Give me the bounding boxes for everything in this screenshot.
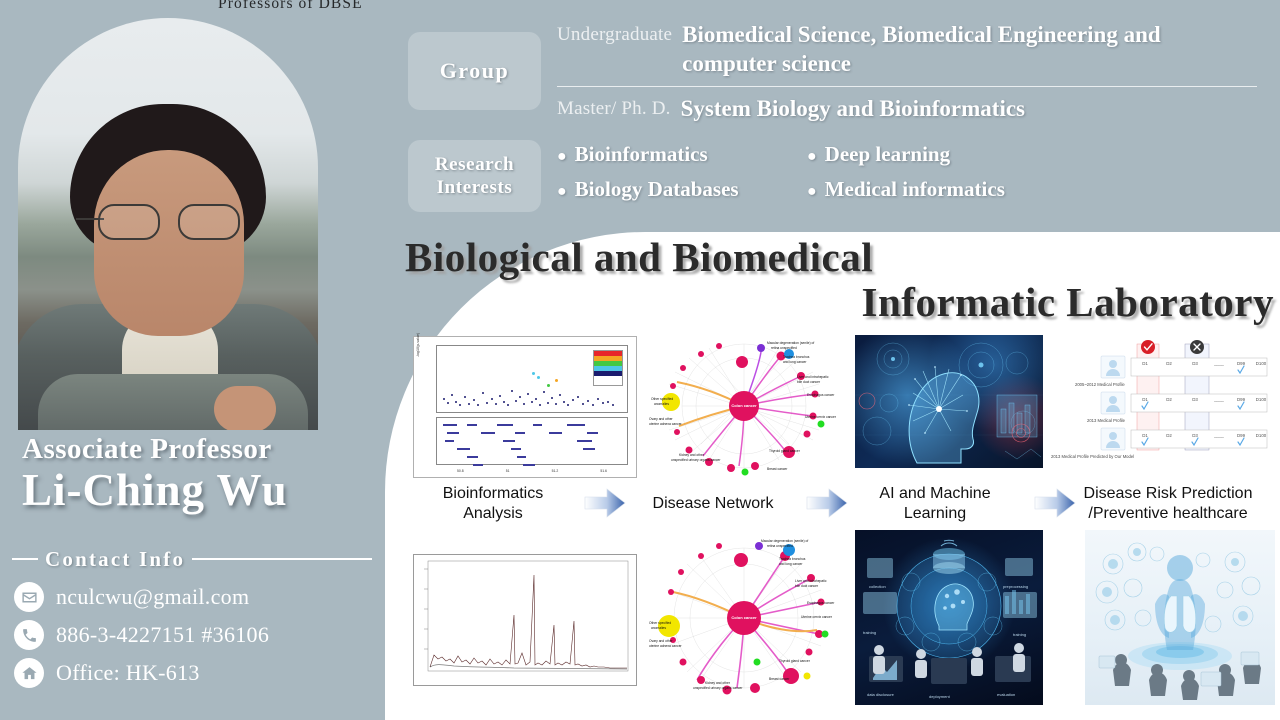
col-d1-r3: D1 <box>1142 433 1148 438</box>
poster-root: Professors of DBSE Associate Professor L… <box>0 0 1280 720</box>
network-b-label-anomalies: Other specified <box>649 621 671 625</box>
network-node-label-kidney: Kidney and other <box>679 453 705 457</box>
network-b-label-ovary: Ovary and other <box>649 639 674 643</box>
header-section: Group ResearchInterests Undergraduate Bi… <box>385 0 1280 232</box>
network-b-label-kidney: Kidney and other <box>705 681 731 685</box>
locuszoom-xticks: 50.8 51 51.2 51.6 <box>436 466 628 475</box>
network-node-label-macular2: retina unspecified <box>771 346 797 350</box>
network-node-label-liver: Liver and intrahepatic <box>797 375 829 379</box>
network-b-label-liver: Liver and intrahepatic <box>795 579 827 583</box>
workflow-stage-2: AI and MachineLearning <box>845 484 1025 523</box>
col-d100-r2: D100 <box>1256 397 1267 402</box>
graduate-label: Master/ Ph. D. <box>557 94 671 120</box>
professor-portrait <box>18 18 318 430</box>
locuszoom-scatter-panel <box>436 345 628 413</box>
check-badge-red <box>1141 340 1155 354</box>
network-node-label-anomalies2: anomalies <box>654 402 669 406</box>
portrait-glasses <box>98 204 240 238</box>
network-b-label-anomalies2: anomalies <box>651 626 666 630</box>
profile-sidebar: Professors of DBSE Associate Professor L… <box>0 0 385 720</box>
envelope-icon <box>14 582 44 612</box>
network-b-label-ovary2: uterine adnexa cancer <box>649 644 683 648</box>
ml-label-training2: training <box>1013 632 1026 637</box>
interest-item-2: ● Biology Databases <box>557 177 807 202</box>
network-hub-label-b: Colon cancer <box>731 615 757 620</box>
disease-comorbidity-network-top: Colon cancer Macular degeneration (senil… <box>649 334 849 479</box>
network-hub-label: Colon cancer <box>731 403 757 408</box>
xtick-3: 51.6 <box>600 469 607 473</box>
network-b-label-esophagus: Esophagus cancer <box>807 601 835 605</box>
interest-label-2: Biology Databases <box>575 177 739 202</box>
network-b-label-macular: Macular degeneration (senile) of <box>761 539 808 543</box>
workflow-stage-0: BioinformaticsAnalysis <box>413 484 573 523</box>
col-d99-r1: D99 <box>1237 361 1246 366</box>
interest-item-0: ● Bioinformatics <box>557 142 807 167</box>
disease-risk-prediction-diagram: D1 D2 D3 ____ D99 D100 D1 D2 D3 ____ D99… <box>1073 334 1273 474</box>
research-interests-tag: ResearchInterests <box>408 140 541 212</box>
ai-neural-head-illustration <box>855 335 1043 468</box>
undergraduate-value: Biomedical Science, Biomedical Engineeri… <box>682 20 1257 79</box>
locuszoom-r2-legend <box>593 350 623 386</box>
ml-label-collection: collection <box>869 584 886 589</box>
research-tag-line1: ResearchInterests <box>435 153 514 199</box>
graduate-value: System Biology and Bioinformatics <box>681 94 1025 123</box>
portrait-face <box>94 150 244 336</box>
contact-row-email[interactable]: nculcwu@gmail.com <box>14 578 374 616</box>
locuszoom-ylabel: -log10(p-value) <box>416 333 420 357</box>
interest-item-3: ● Medical informatics <box>807 177 1257 202</box>
col-d100-r3: D100 <box>1256 433 1267 438</box>
network-node-label-cervix: Uterine cervix cancer <box>805 415 837 419</box>
col-d3-r1: D3 <box>1192 361 1198 366</box>
contact-row-phone[interactable]: 886-3-4227151 #36106 <box>14 616 374 654</box>
network-node-label-kidney2: unspecified urinary organs cancer <box>671 458 721 462</box>
workflow-strip: BioinformaticsAnalysis Disease Network A… <box>385 478 1280 534</box>
undergraduate-label: Undergraduate <box>557 20 672 46</box>
disease-comorbidity-network-bottom: Colon cancer Macular degeneration (senil… <box>649 530 849 705</box>
mass-spectrum-plot <box>413 554 637 686</box>
ml-label-evaluation: evaluation <box>997 692 1015 697</box>
col-d3-r2: D3 <box>1192 397 1198 402</box>
network-node-label-anomalies: Other specified <box>651 397 673 401</box>
network-node-label-macular: Macular degeneration (senile) of <box>767 341 814 345</box>
profile-row-label-0: 2005~2012 Medical Profile <box>1075 382 1125 387</box>
network-b-label-cervix: Uterine cervix cancer <box>801 615 833 619</box>
network-node-label-lung: Trachea bronchus <box>783 355 810 359</box>
workflow-stage-3: Disease Risk Prediction/Preventive healt… <box>1061 484 1275 523</box>
contact-rule-right <box>192 558 372 560</box>
xtick-1: 51 <box>506 469 510 473</box>
interest-label-1: Deep learning <box>825 142 950 167</box>
xtick-2: 51.2 <box>552 469 559 473</box>
col-d3-r3: D3 <box>1192 433 1198 438</box>
contact-phone: 886-3-4227151 #36106 <box>56 622 269 648</box>
bullet-icon: ● <box>557 184 567 200</box>
contact-list: nculcwu@gmail.com 886-3-4227151 #36106 O… <box>14 578 374 692</box>
name-block: Associate Professor Li-Ching Wu <box>22 434 372 515</box>
profile-row-label-2: 2013 Medical Profile Predicted by Our Mo… <box>1051 454 1134 459</box>
contact-rule-left <box>12 558 38 560</box>
contact-info-heading: Contact Info <box>12 546 372 572</box>
contact-heading-text: Contact Info <box>45 547 185 572</box>
network-node-label-lung2: and lung cancer <box>783 360 807 364</box>
education-row-graduate: Master/ Ph. D. System Biology and Bioinf… <box>557 94 1257 123</box>
education-row-undergraduate: Undergraduate Biomedical Science, Biomed… <box>557 20 1257 79</box>
network-b-label-breast: Breast cancer <box>769 677 790 681</box>
education-divider <box>557 86 1257 87</box>
ml-label-training: training <box>863 630 876 635</box>
interest-item-1: ● Deep learning <box>807 142 1257 167</box>
network-node-label-esophagus: Esophagus cancer <box>807 393 835 397</box>
research-interests-block: ● Bioinformatics ● Deep learning ● Biolo… <box>557 142 1257 202</box>
col-gap-r1: ____ <box>1213 361 1224 366</box>
network-node-label-liver2: bile duct cancer <box>797 380 821 384</box>
preventive-healthcare-illustration <box>1085 530 1275 705</box>
locuszoom-gene-track <box>436 417 628 465</box>
col-d2-r3: D2 <box>1166 433 1172 438</box>
network-b-label-lung2: and lung cancer <box>779 562 803 566</box>
network-node-label-thyroid: Thyroid gland cancer <box>769 449 801 453</box>
bullet-icon: ● <box>557 149 567 165</box>
network-node-label-breast: Breast cancer <box>767 467 788 471</box>
contact-office: Office: HK-613 <box>56 660 200 686</box>
contact-row-office[interactable]: Office: HK-613 <box>14 654 374 692</box>
col-d2-r2: D2 <box>1166 397 1172 402</box>
portrait-hand <box>214 386 276 430</box>
bullet-icon: ● <box>807 149 817 165</box>
phone-icon <box>14 620 44 650</box>
group-tag: Group <box>408 32 541 110</box>
workflow-stage-1: Disease Network <box>633 494 793 514</box>
bullet-icon: ● <box>807 184 817 200</box>
ml-label-preprocessing: preprocessing <box>1003 584 1028 589</box>
education-block: Undergraduate Biomedical Science, Biomed… <box>557 20 1257 123</box>
workflow-arrow-0 <box>583 486 627 520</box>
network-b-label-liver2: bile duct cancer <box>795 584 819 588</box>
col-d99-r3: D99 <box>1237 433 1246 438</box>
profile-row-label-1: 2013 Medical Profile <box>1087 418 1126 423</box>
col-d100-r1: D100 <box>1256 361 1267 366</box>
interest-label-0: Bioinformatics <box>575 142 708 167</box>
xtick-0: 50.8 <box>457 469 464 473</box>
col-d99-r2: D99 <box>1237 397 1246 402</box>
professor-name: Li-Ching Wu <box>22 466 372 515</box>
col-gap-r3: ____ <box>1213 433 1224 438</box>
network-node-label-ovary2: uterine adnexa cancer <box>649 422 683 426</box>
network-b-label-lung: Trachea bronchus <box>779 557 806 561</box>
contact-email: nculcwu@gmail.com <box>56 584 249 610</box>
locuszoom-manhattan-plot: -log10(p-value) <box>413 336 637 478</box>
col-d1-r2: D1 <box>1142 397 1148 402</box>
interest-label-3: Medical informatics <box>825 177 1005 202</box>
workflow-arrow-1 <box>805 486 849 520</box>
ml-label-disclosure: data disclosure <box>867 692 895 697</box>
badge-arc-text: Professors of DBSE <box>218 0 363 12</box>
network-node-label-ovary: Ovary and other <box>649 417 674 421</box>
network-b-label-thyroid: Thyroid gland cancer <box>779 659 811 663</box>
col-gap-r2: ____ <box>1213 397 1224 402</box>
home-icon <box>14 658 44 688</box>
col-d2-r1: D2 <box>1166 361 1172 366</box>
ml-label-deployment: deployment <box>929 694 951 699</box>
col-d1-r1: D1 <box>1142 361 1148 366</box>
portrait-photo <box>18 18 318 430</box>
network-b-label-kidney2: unspecified urinary organs cancer <box>693 686 743 690</box>
professor-role: Associate Professor <box>22 434 372 464</box>
network-b-label-macular2: retina unspecified <box>767 544 793 548</box>
machine-learning-pipeline-illustration: collection preprocessing training traini… <box>855 530 1043 705</box>
